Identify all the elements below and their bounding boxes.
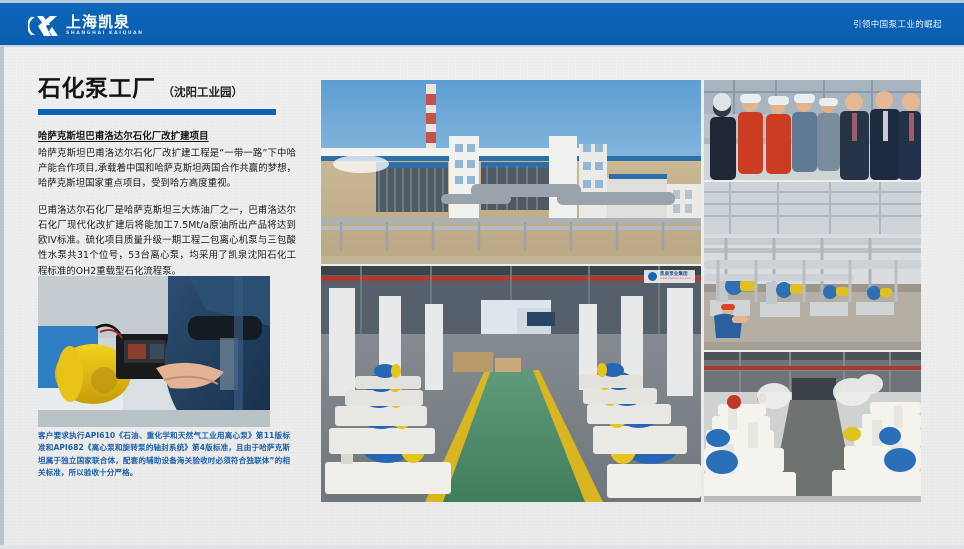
- kaiquan-kq-monogram-icon: [28, 13, 61, 39]
- brand-name-en: SHANGHAI KAIQUAN: [66, 32, 144, 37]
- delegation-site-visit-photo: [704, 80, 921, 180]
- company-watermark: 凯泉泵业集团 www.shkaiquan.com: [644, 270, 695, 283]
- technician-vibration-test-photo: [38, 276, 270, 427]
- refinery-plant-exterior-photo: [321, 80, 701, 264]
- title-underline: [38, 109, 276, 115]
- photo-gallery: 凯泉泵业集团 www.shkaiquan.com: [321, 80, 921, 502]
- watermark-logo-icon: [648, 272, 657, 281]
- page-header: 上海凯泉 SHANGHAI KAIQUAN 引领中国泵工业的崛起: [0, 3, 964, 45]
- page-subtitle: （沈阳工业园）: [163, 84, 244, 101]
- body-paragraph-1: 哈萨克斯坦巴甫洛达尔石化厂改扩建工程是“一带一路”下中哈产能合作项目,承载着中国…: [38, 146, 296, 192]
- body-paragraph-2: 巴甫洛达尔石化厂是哈萨克斯坦三大炼油厂之一，巴甫洛达尔石化厂现代化改扩建后将能加…: [38, 203, 296, 279]
- assembly-workshop-photo: 凯泉泵业集团 www.shkaiquan.com: [321, 266, 701, 502]
- brand-wordmark: 上海凯泉 SHANGHAI KAIQUAN: [66, 15, 144, 37]
- header-slogan: 引领中国泵工业的崛起: [853, 3, 942, 45]
- pump-station-piping-photo: [704, 182, 921, 350]
- project-caption: 客户要求执行API610《石油、重化学和天然气工业用离心泵》第11版标准和API…: [38, 430, 290, 479]
- project-lead-heading: 哈萨克斯坦巴甫洛达尔石化厂改扩建项目: [38, 128, 296, 142]
- brand-name-cn: 上海凯泉: [66, 15, 144, 30]
- left-content-column: 石化泵工厂 （沈阳工业园） 哈萨克斯坦巴甫洛达尔石化厂改扩建项目 哈萨克斯坦巴甫…: [38, 78, 296, 279]
- brand-logo[interactable]: 上海凯泉 SHANGHAI KAIQUAN: [28, 12, 144, 39]
- bottom-edge-strip: [0, 545, 964, 549]
- watermark-url: www.shkaiquan.com: [660, 278, 691, 281]
- slide-page: 上海凯泉 SHANGHAI KAIQUAN 引领中国泵工业的崛起 石化泵工厂 （…: [0, 0, 964, 549]
- page-title-row: 石化泵工厂 （沈阳工业园）: [38, 78, 296, 101]
- watermark-text: 凯泉泵业集团 www.shkaiquan.com: [660, 273, 691, 281]
- header-divider: [0, 45, 964, 47]
- packaged-pumps-warehouse-photo: [704, 352, 921, 502]
- page-title: 石化泵工厂: [38, 78, 156, 101]
- left-edge-strip: [0, 47, 4, 549]
